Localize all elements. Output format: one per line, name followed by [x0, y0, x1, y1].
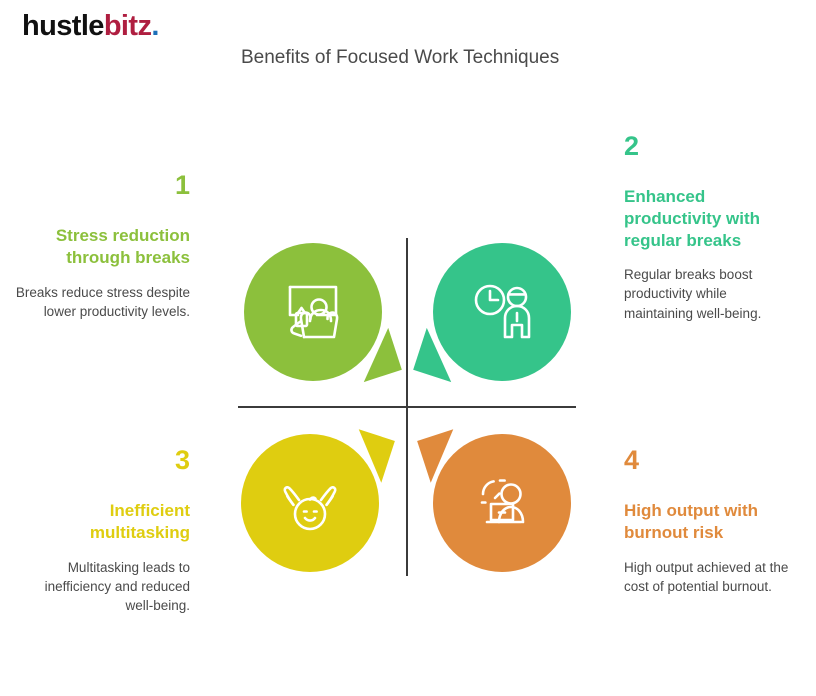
quadrant-4-number: 4 — [624, 447, 799, 474]
person-working-on-laptop-icon — [433, 434, 571, 572]
quadrant-2-number: 2 — [624, 133, 799, 160]
quadrant-2-text: 2 Enhanced productivity with regular bre… — [624, 133, 799, 323]
quadrant-4-heading: High output with burnout risk — [624, 500, 799, 544]
divider-horizontal — [238, 406, 576, 408]
quadrant-1-heading: Stress reduction through breaks — [15, 225, 190, 269]
quadrant-2-heading: Enhanced productivity with regular break… — [624, 186, 799, 251]
quadrant-3-body: Multitasking leads to inefficiency and r… — [15, 558, 190, 615]
quadrant-4-text: 4 High output with burnout risk High out… — [624, 447, 799, 596]
stressed-person-hands-on-head-icon — [241, 434, 379, 572]
quadrant-4-body: High output achieved at the cost of pote… — [624, 558, 799, 596]
logo-text-bitz: bitz — [104, 10, 152, 42]
quadrant-2-body: Regular breaks boost productivity while … — [624, 265, 799, 322]
quadrant-1-text: 1 Stress reduction through breaks Breaks… — [15, 172, 190, 321]
quadrant-3-text: 3 Inefficient multitasking Multitasking … — [15, 447, 190, 615]
quadrant-3-heading: Inefficient multitasking — [15, 500, 190, 544]
quadrant-3-bubble — [241, 434, 379, 572]
logo-dot: . — [151, 10, 158, 42]
quadrant-1-bubble — [244, 243, 382, 381]
person-relaxing-in-armchair-icon — [244, 243, 382, 381]
quadrant-3-number: 3 — [15, 447, 190, 474]
clock-and-person-icon — [433, 243, 571, 381]
page-title: Benefits of Focused Work Techniques — [241, 47, 559, 70]
quadrant-1-number: 1 — [15, 172, 190, 199]
brand-logo: hustlebitz. — [22, 12, 159, 41]
logo-text-hustle: hustle — [22, 10, 104, 42]
quadrant-4-bubble — [433, 434, 571, 572]
quadrant-1-body: Breaks reduce stress despite lower produ… — [15, 283, 190, 321]
quadrant-2-bubble — [433, 243, 571, 381]
infographic-page: hustlebitz. Benefits of Focused Work Tec… — [0, 0, 816, 696]
